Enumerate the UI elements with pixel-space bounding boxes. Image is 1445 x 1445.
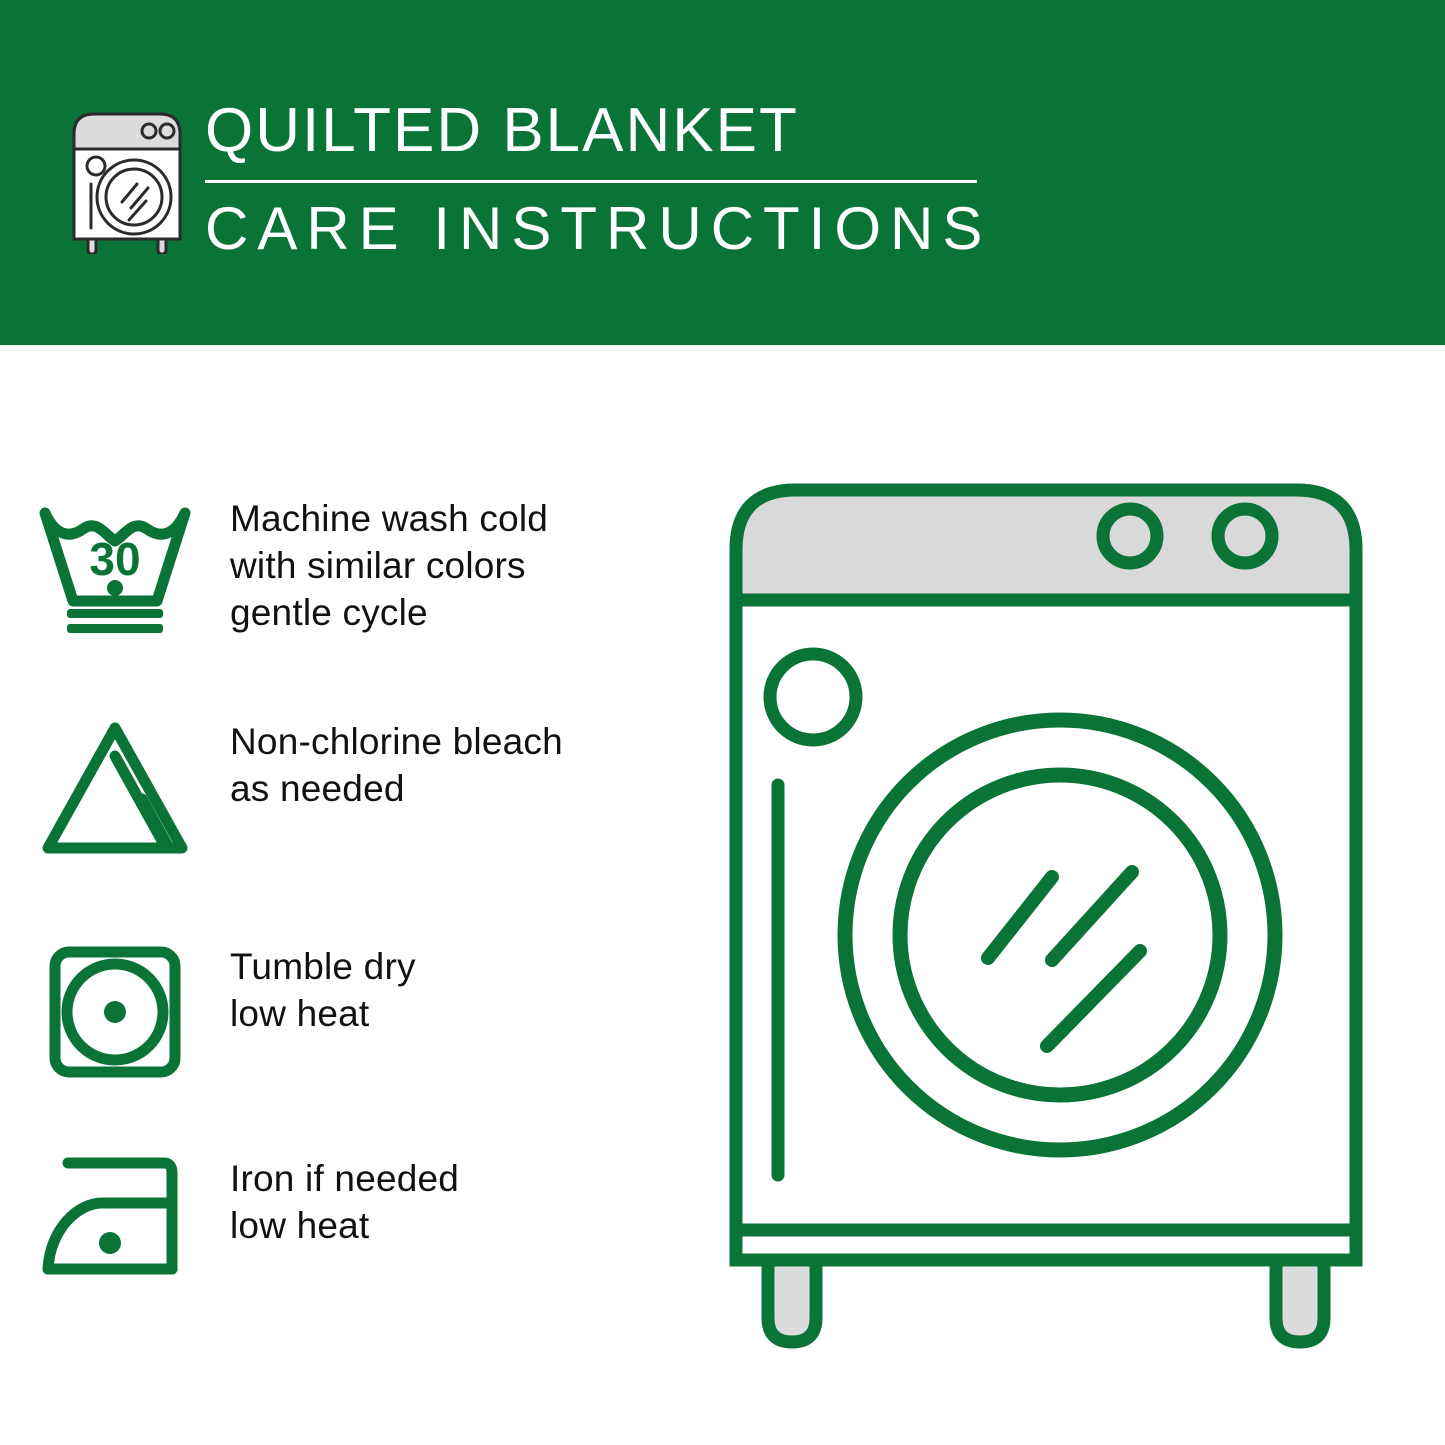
page-subtitle: CARE INSTRUCTIONS [205,195,995,263]
care-line: low heat [230,990,416,1037]
svg-text:30: 30 [89,533,140,585]
care-line: Tumble dry [230,943,416,990]
care-label-tumble-dry: Tumble dry low heat [230,933,416,1037]
care-label-bleach: Non-chlorine bleach as needed [230,708,563,812]
care-line: as needed [230,765,563,812]
tumble-dry-low-icon [0,933,230,1089]
care-line: gentle cycle [230,589,548,636]
care-line: Non-chlorine bleach [230,718,563,765]
care-line: Machine wash cold [230,495,548,542]
care-line: low heat [230,1202,459,1249]
iron-low-heat-icon [0,1145,230,1281]
header-banner: QUILTED BLANKET CARE INSTRUCTIONS [0,0,1445,345]
care-line: Iron if needed [230,1155,459,1202]
non-chlorine-bleach-triangle-icon [0,708,230,864]
care-row-tumble-dry: Tumble dry low heat [0,933,700,1089]
care-label-iron: Iron if needed low heat [230,1145,459,1249]
title-divider [205,180,977,183]
washing-machine-logo-icon [66,104,188,254]
page-title: QUILTED BLANKET [205,96,995,166]
care-instruction-list: 30 Machine wash cold with similar colors… [0,345,700,1445]
care-label-machine-wash: Machine wash cold with similar colors ge… [230,485,548,636]
care-line: with similar colors [230,542,548,589]
care-instructions-page: QUILTED BLANKET CARE INSTRUCTIONS 30 [0,0,1445,1445]
care-row-machine-wash: 30 Machine wash cold with similar colors… [0,485,700,641]
care-row-iron: Iron if needed low heat [0,1145,700,1281]
wash-tub-30-gentle-icon: 30 [0,485,230,641]
header-title-block: QUILTED BLANKET CARE INSTRUCTIONS [205,96,995,263]
washing-machine-illustration [700,440,1420,1360]
care-row-bleach: Non-chlorine bleach as needed [0,708,700,864]
